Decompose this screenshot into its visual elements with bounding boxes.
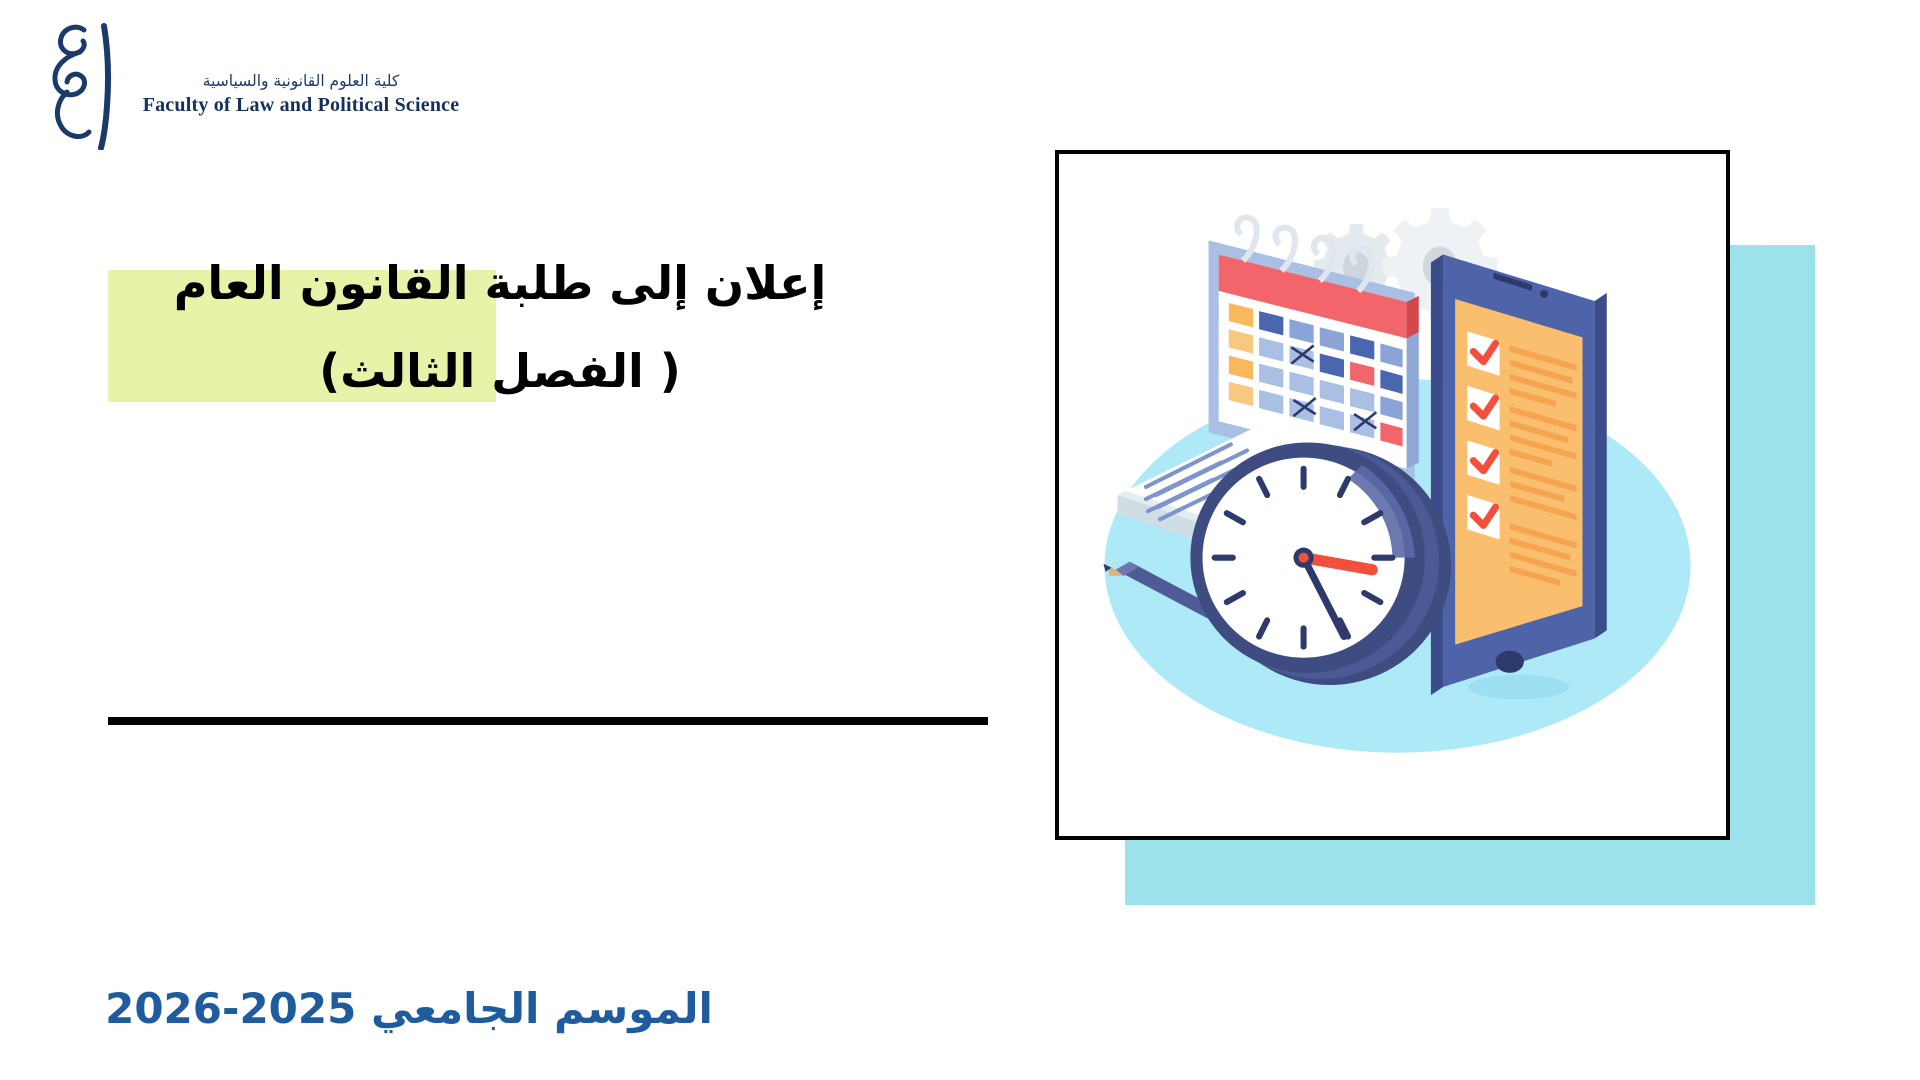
title-line-2: ( الفصل الثالث) [319,344,681,398]
title-divider-rule [108,717,988,725]
slide-root: كلية العلوم القانونية والسياسية Faculty … [0,0,1920,1080]
faculty-name-arabic: كلية العلوم القانونية والسياسية [136,72,466,91]
title-line-1: إعلان إلى طلبة القانون العام [174,256,827,310]
faculty-logo-text: كلية العلوم القانونية والسياسية Faculty … [136,72,466,117]
time-management-isometric-illustration-icon [1059,154,1726,836]
faculty-logo: كلية العلوم القانونية والسياسية Faculty … [28,22,468,152]
title-line-1-row: إعلان إلى طلبة القانون العام [0,260,1000,306]
tablet-checklist [1431,254,1607,695]
title-line-2-row: ( الفصل الثالث) [0,348,1000,394]
academic-year-label: الموسم الجامعي 2025-2026 [0,988,818,1030]
faculty-name-english: Faculty of Law and Political Science [136,93,466,117]
illustration-frame [1055,150,1730,840]
faculty-calligraphy-logo-icon [34,22,126,150]
announcement-title: إعلان إلى طلبة القانون العام ( الفصل الث… [0,250,1000,394]
